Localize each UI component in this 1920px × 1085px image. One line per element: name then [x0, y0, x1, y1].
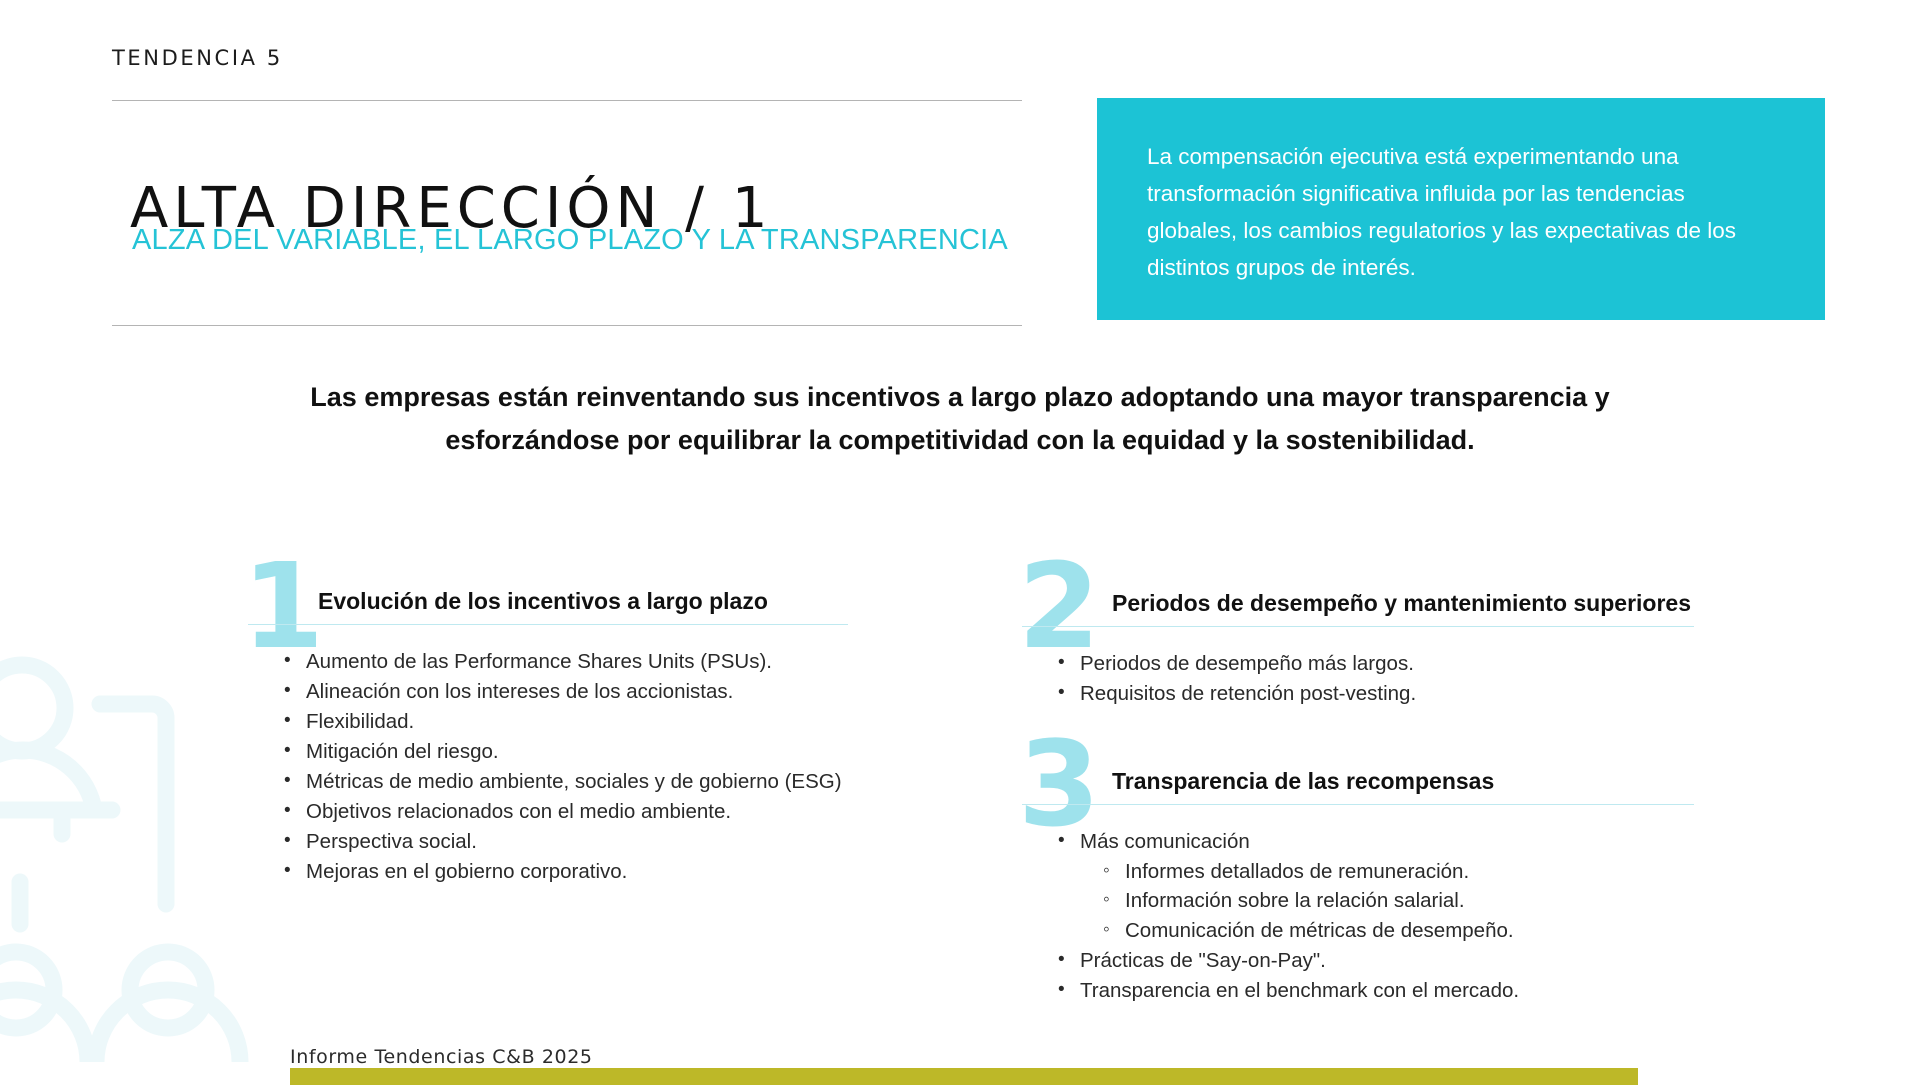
list-item: Periodos de desempeño más largos.: [1080, 649, 1694, 679]
people-presentation-icon: [0, 632, 290, 1062]
list-item: Flexibilidad.: [306, 707, 848, 737]
section-3: 3 Transparencia de las recompensas Más c…: [1022, 768, 1694, 1006]
section-rule-3: [1022, 804, 1694, 805]
section-1-bullets: Aumento de las Performance Shares Units …: [248, 647, 848, 887]
lead-paragraph: Las empresas están reinventando sus ince…: [250, 376, 1670, 462]
sub-list-item: Comunicación de métricas de desempeño.: [1125, 916, 1694, 946]
section-1: 1 Evolución de los incentivos a largo pl…: [248, 588, 848, 887]
section-heading-2: Periodos de desempeño y mantenimiento su…: [1022, 590, 1694, 617]
footer-label: Informe Tendencias C&B 2025: [290, 1046, 593, 1068]
header-rule-bottom: [112, 325, 1022, 326]
list-item: Perspectiva social.: [306, 827, 848, 857]
section-heading-3: Transparencia de las recompensas: [1022, 768, 1694, 795]
sub-list-item: Informes detallados de remuneración.: [1125, 857, 1694, 887]
section-2-bullets: Periodos de desempeño más largos. Requis…: [1022, 649, 1694, 709]
section-3-bullets: Más comunicación Informes detallados de …: [1022, 827, 1694, 1005]
list-item: Más comunicación Informes detallados de …: [1080, 827, 1694, 945]
footer-accent-bar: [290, 1068, 1638, 1085]
section-3-sub-bullets: Informes detallados de remuneración. Inf…: [1080, 857, 1694, 946]
list-item: Métricas de medio ambiente, sociales y d…: [306, 767, 848, 797]
section-rule-1: [248, 624, 848, 625]
list-item: Transparencia en el benchmark con el mer…: [1080, 976, 1694, 1006]
section-heading-1: Evolución de los incentivos a largo plaz…: [248, 588, 848, 615]
list-item: Mitigación del riesgo.: [306, 737, 848, 767]
section-rule-2: [1022, 626, 1694, 627]
section-2: 2 Periodos de desempeño y mantenimiento …: [1022, 590, 1694, 709]
header-rule-top: [112, 100, 1022, 101]
list-item: Prácticas de "Say-on-Pay".: [1080, 946, 1694, 976]
list-item: Mejoras en el gobierno corporativo.: [306, 857, 848, 887]
list-item: Alineación con los intereses de los acci…: [306, 677, 848, 707]
page-subtitle: ALZA DEL VARIABLE, EL LARGO PLAZO Y LA T…: [132, 224, 1008, 257]
list-item: Aumento de las Performance Shares Units …: [306, 647, 848, 677]
callout-box: La compensación ejecutiva está experimen…: [1097, 98, 1825, 320]
callout-text: La compensación ejecutiva está experimen…: [1147, 138, 1775, 286]
list-item: Objetivos relacionados con el medio ambi…: [306, 797, 848, 827]
list-item: Requisitos de retención post-vesting.: [1080, 679, 1694, 709]
eyebrow-label: TENDENCIA 5: [112, 46, 283, 70]
sub-list-item: Información sobre la relación salarial.: [1125, 886, 1694, 916]
